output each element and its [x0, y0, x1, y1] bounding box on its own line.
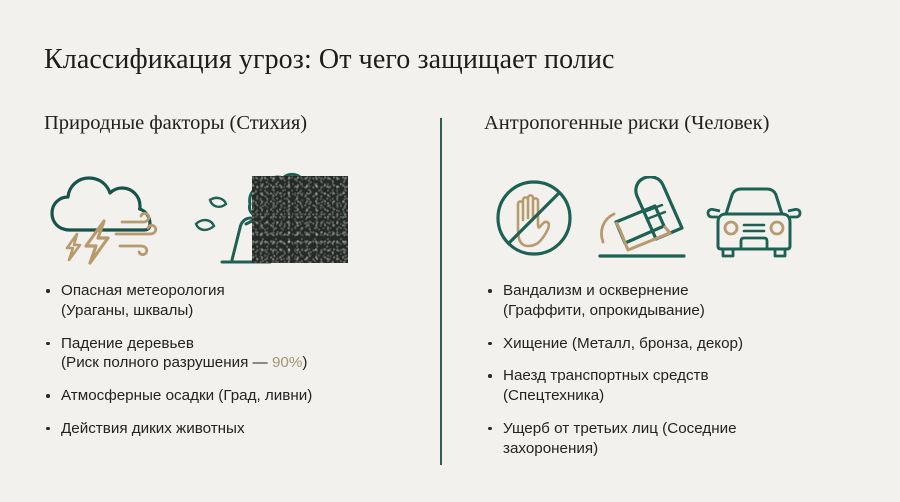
falling-tree-icon [174, 168, 354, 268]
list-item: Ущерб от третьих лиц (Соседние захоронен… [486, 419, 878, 459]
bullet-sub-text: захоронения) [503, 439, 878, 459]
bullet-main-text: Падение деревьев [61, 335, 194, 352]
bullet-list-natural: Опасная метеорология (Ураганы, шквалы) П… [44, 281, 414, 439]
storm-cloud-lightning-wind-icon [44, 168, 174, 268]
list-item: Атмосферные осадки (Град, ливни) [44, 386, 414, 406]
list-item: Действия диких животных [44, 419, 414, 439]
bullet-main-text: Наезд транспортных средств [503, 367, 709, 384]
bullet-sub-text: (Спецтехника) [503, 386, 878, 406]
bullet-sub-text: (Граффити, опрокидывание) [503, 301, 878, 321]
bullet-main-text: Опасная метеорология [61, 282, 225, 299]
list-item: Вандализм и осквернение (Граффити, опрок… [486, 281, 878, 321]
list-item: Хищение (Металл, бронза, декор) [486, 334, 878, 354]
bullet-sub-text: (Ураганы, шквалы) [61, 301, 414, 321]
bullet-sub-prefix: (Риск полного разрушения — [61, 354, 272, 371]
column-natural-factors: Природные факторы (Стихия) [44, 112, 424, 135]
icon-group-natural [44, 168, 354, 268]
list-item: Падение деревьев (Риск полного разрушени… [44, 334, 414, 374]
car-front-icon [704, 184, 804, 260]
bullet-main-text: Действия диких животных [61, 420, 245, 437]
page-title: Классификация угроз: От чего защищает по… [44, 44, 615, 76]
risk-percentage-highlight: 90% [272, 354, 302, 371]
granite-stone-block [252, 176, 348, 263]
bullet-main-text: Ущерб от третьих лиц (Соседние [503, 420, 737, 437]
falling-tombstone-icon [592, 176, 688, 260]
column-heading-anthropogenic: Антропогенные риски (Человек) [484, 112, 874, 135]
bullet-main-text: Вандализм и осквернение [503, 282, 689, 299]
column-anthropogenic-risks: Антропогенные риски (Человек) [484, 112, 874, 135]
bullet-sub-text: (Риск полного разрушения — 90%) [61, 353, 414, 373]
bullet-main-text: Хищение (Металл, бронза, декор) [503, 335, 743, 352]
bullet-sub-suffix: ) [302, 354, 307, 371]
bullet-main-text: Атмосферные осадки (Град, ливни) [61, 387, 312, 404]
slide-root: Классификация угроз: От чего защищает по… [0, 0, 900, 502]
no-hand-prohibition-icon [492, 176, 576, 260]
bullet-list-anthropogenic: Вандализм и осквернение (Граффити, опрок… [486, 281, 878, 458]
vertical-divider [440, 118, 442, 465]
icon-group-anthropogenic [492, 176, 804, 260]
list-item: Наезд транспортных средств (Спецтехника) [486, 366, 878, 406]
column-heading-natural: Природные факторы (Стихия) [44, 112, 424, 135]
list-item: Опасная метеорология (Ураганы, шквалы) [44, 281, 414, 321]
